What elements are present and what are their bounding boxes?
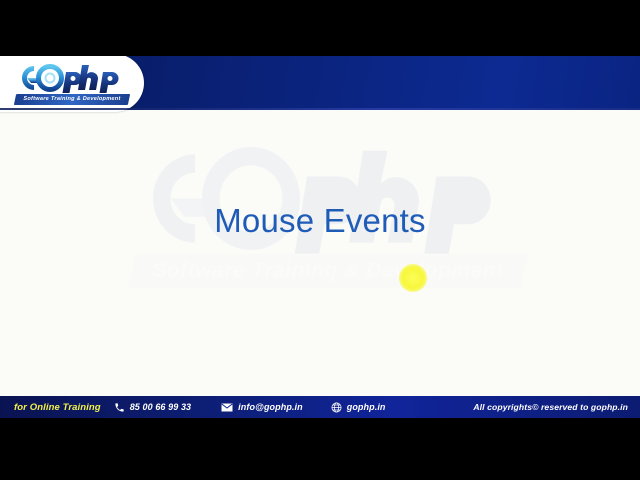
slide-stage: Software Training & Development Software… [0, 56, 640, 418]
footer-email[interactable]: info@gophp.in [221, 402, 303, 412]
envelope-icon [221, 403, 233, 412]
letterbox-bottom [0, 418, 640, 480]
footer-copyright: All copyrights© reserved to gophp.in [473, 402, 628, 412]
watermark-tagline: Software Training & Development [132, 254, 524, 288]
footer-website-text: gophp.in [347, 402, 386, 412]
footer-email-text: info@gophp.in [238, 402, 303, 412]
logo-tagline-ribbon: Software Training & Development [14, 94, 130, 105]
watermark-tagline-ribbon: Software Training & Development [128, 254, 527, 288]
footer-bar: for Online Training 85 00 66 99 33 info@… [0, 396, 640, 418]
gophp-watermark-icon [118, 136, 538, 261]
slide-header-bar: Software Training & Development [0, 56, 640, 110]
gophp-logo-icon [12, 61, 132, 95]
footer-phone[interactable]: 85 00 66 99 33 [114, 402, 191, 413]
footer-training-label: for Online Training [14, 402, 101, 413]
cursor-highlight [399, 264, 427, 292]
globe-icon [331, 402, 342, 413]
footer-phone-text: 85 00 66 99 33 [130, 402, 191, 412]
footer-website[interactable]: gophp.in [331, 402, 386, 413]
header-underline [0, 108, 640, 110]
logo-tagline: Software Training & Development [15, 94, 129, 105]
phone-icon [114, 402, 125, 413]
letterbox-top [0, 0, 640, 56]
brand-logo: Software Training & Development [12, 60, 130, 108]
page-title: Mouse Events [0, 202, 640, 240]
